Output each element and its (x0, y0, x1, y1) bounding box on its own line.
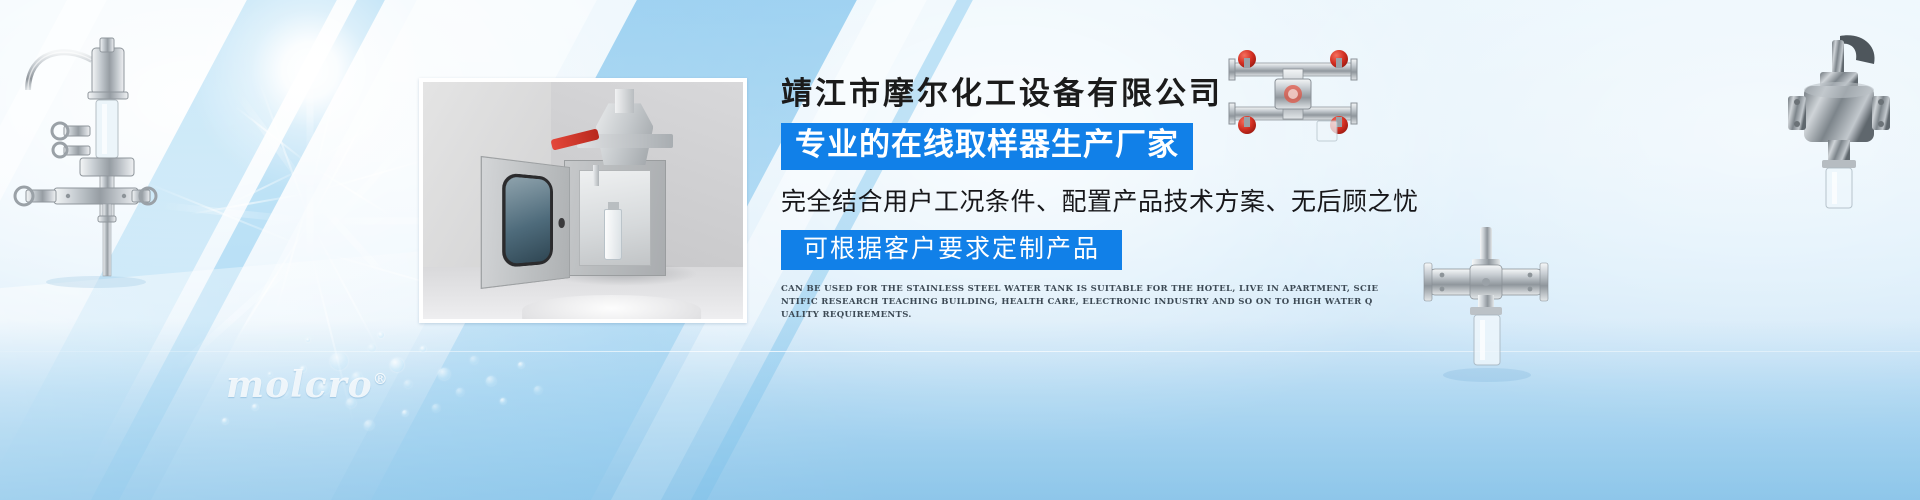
sun-ray (309, 73, 341, 193)
water-droplet (402, 410, 408, 416)
sun-ray (307, 165, 314, 260)
sun-ray (310, 158, 429, 194)
sun-ray (235, 91, 313, 195)
water-droplet (486, 376, 496, 386)
sun-ray (307, 70, 314, 165)
watermark-logo: molcro® (226, 364, 389, 406)
water-droplet (420, 346, 426, 352)
english-line: CAN BE USED FOR THE STAINLESS STEEL WATE… (781, 283, 1261, 296)
water-droplet (500, 398, 506, 404)
english-line: UALITY REQUIREMENTS. (781, 309, 1261, 322)
product-cross-manifold (1213, 45, 1373, 145)
cabinet-interior (579, 170, 651, 266)
sunburst-glow (170, 0, 450, 210)
sun-ray (275, 193, 311, 312)
english-description: CAN BE USED FOR THE STAINLESS STEEL WATE… (781, 283, 1261, 322)
tagline-detail: 完全结合用户工况条件、配置产品技术方案、无后顾之忧 (781, 182, 1401, 218)
tagline-custom-badge: 可根据客户要求定制产品 (781, 230, 1122, 271)
sun-ray (309, 164, 391, 216)
sun-ray (189, 192, 310, 215)
water-droplet (364, 420, 374, 430)
sun-ray (309, 87, 382, 221)
water-droplet (456, 388, 464, 396)
water-droplet (378, 332, 384, 338)
water-droplet (222, 418, 228, 424)
sun-ray (235, 106, 311, 166)
water-droplet (432, 404, 440, 412)
sun-ray (159, 202, 310, 225)
product-sampler-assembly-left (8, 30, 158, 290)
water-droplet (390, 358, 404, 372)
cabinet-door (480, 156, 570, 290)
water-droplet (470, 356, 478, 364)
sun-ray (307, 114, 432, 252)
door-window (502, 173, 553, 269)
sample-bottle-cap (608, 202, 619, 210)
english-line: NTIFIC RESEARCH TEACHING BUILDING, HEALT… (781, 296, 1261, 309)
horizon-line (0, 351, 1920, 352)
valve-stack (615, 89, 634, 113)
sun-ray (224, 164, 310, 207)
sun-ray (144, 181, 311, 250)
sun-ray (229, 220, 311, 349)
tagline-primary-badge: 专业的在线取样器生产厂家 (781, 123, 1193, 170)
valve-body-icon (1782, 30, 1902, 230)
water-droplet (518, 362, 524, 368)
photo-pedestal (522, 295, 701, 319)
water-droplet (438, 368, 450, 380)
cross-manifold-icon (1213, 45, 1373, 145)
product-valve-right (1900, 30, 1902, 235)
sample-tube (593, 165, 599, 186)
water-droplet (368, 344, 376, 352)
background-floor (0, 320, 1920, 500)
sun-ray (307, 191, 395, 287)
sun-ray (309, 221, 382, 355)
door-lock-icon (558, 219, 565, 229)
sun-ray (309, 114, 391, 166)
product-photo (423, 82, 743, 319)
sampler-cabinet (564, 160, 666, 276)
water-droplet (534, 386, 542, 394)
watermark-text: molcro (226, 364, 373, 406)
tee-valve-icon (1422, 225, 1552, 395)
promotional-banner: 靖江市摩尔化工设备有限公司 专业的在线取样器生产厂家 完全结合用户工况条件、配置… (0, 0, 1920, 500)
product-tee-valve (1422, 225, 1552, 385)
sun-ray (257, 79, 311, 222)
product-photo-frame (419, 78, 747, 323)
watermark-registered-mark: ® (373, 370, 389, 388)
sample-bottle (604, 209, 622, 260)
water-droplet (306, 338, 310, 342)
sun-ray (175, 246, 313, 371)
sampler-assembly-icon (8, 30, 158, 290)
water-droplet (404, 380, 412, 388)
